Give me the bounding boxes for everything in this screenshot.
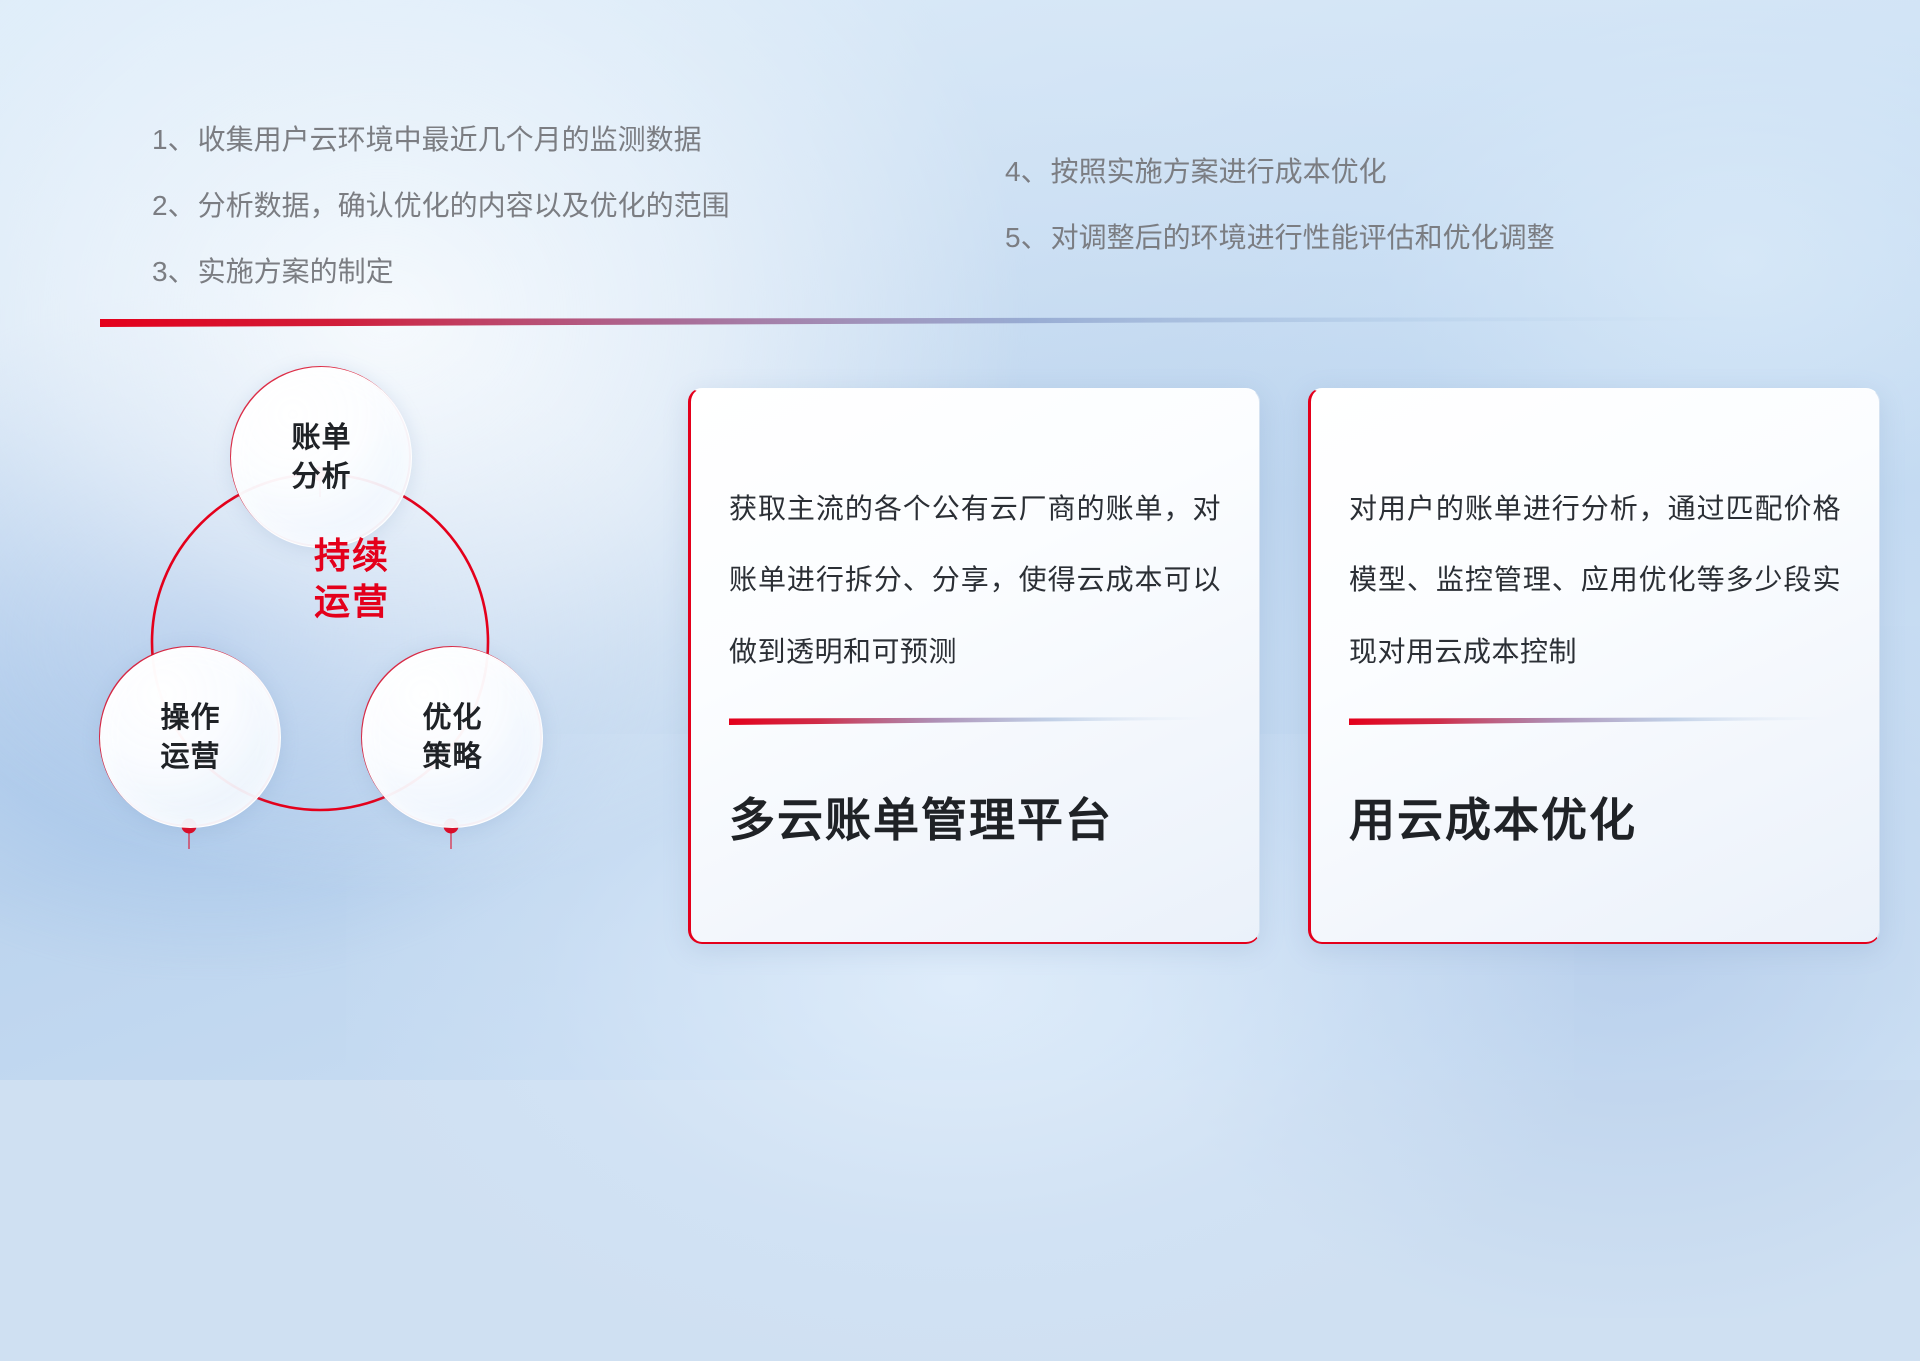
diagram-center-label: 持续 运营 xyxy=(262,533,442,625)
card-divider-rule xyxy=(729,717,1221,726)
step-text: 分析数据，确认优化的内容以及优化的范围 xyxy=(198,192,730,220)
steps-list-right: 4、 按照实施方案进行成本优化 5、 对调整后的环境进行性能评估和优化调整 xyxy=(1005,158,1555,290)
card-multi-cloud-billing-platform[interactable]: 获取主流的各个公有云厂商的账单，对账单进行拆分、分享，使得云成本可以做到透明和可… xyxy=(688,388,1260,944)
node-label-line1: 操作 xyxy=(160,699,220,738)
diagram-node-operations[interactable]: 操作 运营 xyxy=(100,647,281,828)
center-label-line2: 运营 xyxy=(262,579,442,625)
card-body-text: 获取主流的各个公有云厂商的账单，对账单进行拆分、分享，使得云成本可以做到透明和可… xyxy=(729,473,1221,687)
step-text: 收集用户云环境中最近几个月的监测数据 xyxy=(198,126,702,154)
step-item: 5、 对调整后的环境进行性能评估和优化调整 xyxy=(1005,224,1555,252)
diagram-node-optimization[interactable]: 优化 策略 xyxy=(362,647,543,828)
step-number: 1、 xyxy=(152,126,196,154)
card-divider-rule xyxy=(1349,717,1841,726)
step-item: 1、 收集用户云环境中最近几个月的监测数据 xyxy=(152,126,730,154)
card-title: 多云账单管理平台 xyxy=(729,784,1221,850)
step-item: 2、 分析数据，确认优化的内容以及优化的范围 xyxy=(152,192,730,220)
node-label-line1: 优化 xyxy=(422,699,482,738)
center-label-line1: 持续 xyxy=(262,533,442,579)
steps-list-left: 1、 收集用户云环境中最近几个月的监测数据 2、 分析数据，确认优化的内容以及优… xyxy=(152,126,730,324)
step-number: 3、 xyxy=(152,258,196,286)
step-text: 对调整后的环境进行性能评估和优化调整 xyxy=(1051,224,1555,252)
step-text: 实施方案的制定 xyxy=(198,258,394,286)
node-label-line1: 账单 xyxy=(291,419,351,458)
card-body-text: 对用户的账单进行分析，通过匹配价格模型、监控管理、应用优化等多少段实现对用云成本… xyxy=(1349,473,1841,687)
step-item: 3、 实施方案的制定 xyxy=(152,258,730,286)
step-number: 4、 xyxy=(1005,158,1049,186)
section-divider-rule xyxy=(100,317,1790,328)
card-cloud-cost-optimization[interactable]: 对用户的账单进行分析，通过匹配价格模型、监控管理、应用优化等多少段实现对用云成本… xyxy=(1308,388,1880,944)
step-text: 按照实施方案进行成本优化 xyxy=(1051,158,1387,186)
diagram-node-bill-analysis[interactable]: 账单 分析 xyxy=(231,367,412,548)
step-number: 2、 xyxy=(152,192,196,220)
node-label-line2: 策略 xyxy=(422,738,482,777)
continuous-operation-diagram: 账单 分析 操作 运营 优化 策略 持续 运营 xyxy=(100,355,620,955)
node-label-line2: 运营 xyxy=(160,738,220,777)
card-title: 用云成本优化 xyxy=(1349,784,1841,850)
step-item: 4、 按照实施方案进行成本优化 xyxy=(1005,158,1555,186)
step-number: 5、 xyxy=(1005,224,1049,252)
node-label-line2: 分析 xyxy=(291,458,351,497)
